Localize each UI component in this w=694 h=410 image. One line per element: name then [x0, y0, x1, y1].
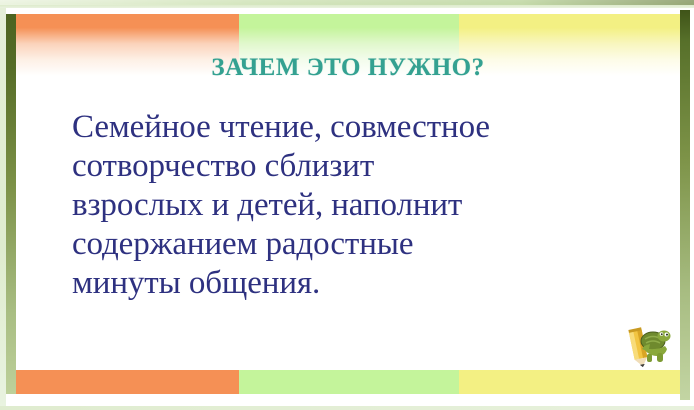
body-line-3: взрослых и детей, наполнит: [72, 186, 672, 225]
slide-body-text: Семейное чтение, совместное сотворчество…: [72, 108, 672, 303]
slide-title: ЗАЧЕМ ЭТО НУЖНО?: [16, 54, 680, 82]
presentation-slide: ЗАЧЕМ ЭТО НУЖНО? Семейное чтение, совмес…: [0, 0, 694, 410]
turtle-with-pencil-icon: [626, 324, 672, 368]
bottom-orange-band: [16, 370, 239, 394]
slide-frame-top-strip: [0, 0, 694, 5]
bottom-green-band: [239, 370, 459, 394]
body-line-5: минуты общения.: [72, 264, 672, 303]
slide-content-plate: ЗАЧЕМ ЭТО НУЖНО? Семейное чтение, совмес…: [16, 14, 680, 394]
body-line-4: содержанием радостные: [72, 225, 672, 264]
bottom-color-band-row: [16, 370, 680, 394]
slide-frame-bottom: [0, 406, 694, 410]
left-accent-bar: [6, 14, 16, 394]
body-line-1: Семейное чтение, совместное: [72, 108, 672, 147]
bottom-yellow-band: [459, 370, 680, 394]
body-line-2: сотворчество сблизит: [72, 147, 672, 186]
right-accent-bar: [680, 10, 690, 400]
